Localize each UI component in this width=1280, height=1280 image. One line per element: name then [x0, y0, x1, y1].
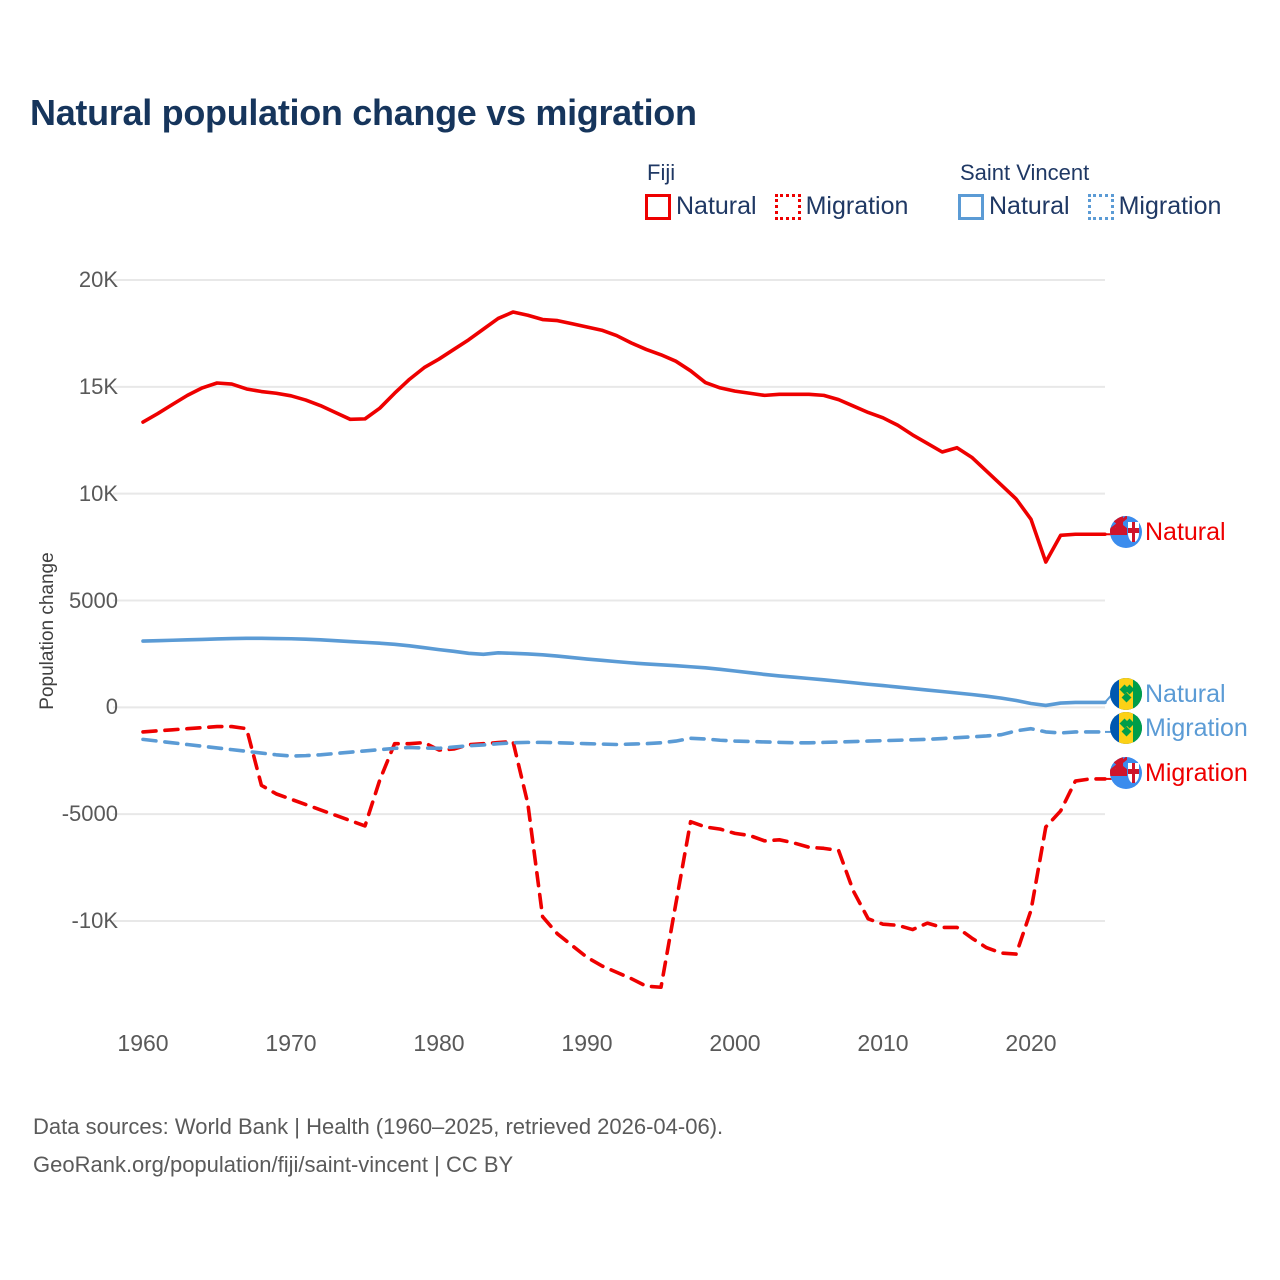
y-axis-tick-label: -5000	[8, 801, 118, 827]
end-label-text: Migration	[1145, 714, 1248, 743]
footer-data-sources: Data sources: World Bank | Health (1960–…	[33, 1108, 723, 1146]
y-axis-tick-label: 5000	[8, 588, 118, 614]
chart-plot-area	[0, 0, 1280, 1280]
x-axis-tick-label: 1990	[527, 1030, 647, 1057]
footer-attribution: GeoRank.org/population/fiji/saint-vincen…	[33, 1146, 723, 1184]
y-axis-tick-label: 15K	[8, 374, 118, 400]
x-axis-tick-label: 1960	[83, 1030, 203, 1057]
x-axis-tick-label: 1980	[379, 1030, 499, 1057]
y-axis-tick-label: 0	[8, 694, 118, 720]
end-label-fiji-migration[interactable]: Migration	[1110, 757, 1248, 789]
end-label-text: Natural	[1145, 518, 1226, 547]
end-label-saint-vincent-natural[interactable]: Natural	[1110, 678, 1226, 710]
saint-vincent-flag-icon	[1110, 712, 1142, 744]
end-label-text: Migration	[1145, 759, 1248, 788]
x-axis-tick-label: 1970	[231, 1030, 351, 1057]
series-line-saint-vincent-natural	[143, 638, 1105, 705]
series-line-fiji-natural	[143, 312, 1105, 562]
footer: Data sources: World Bank | Health (1960–…	[33, 1108, 723, 1184]
y-axis-tick-label: 20K	[8, 267, 118, 293]
chart-page: Natural population change vs migration F…	[0, 0, 1280, 1280]
y-axis-tick-label: -10K	[8, 908, 118, 934]
end-label-text: Natural	[1145, 680, 1226, 709]
y-axis-tick-label: 10K	[8, 481, 118, 507]
series-line-saint-vincent-migration	[143, 729, 1105, 756]
fiji-flag-icon	[1110, 516, 1142, 548]
series-line-fiji-migration	[143, 727, 1105, 988]
y-axis-title: Population change	[37, 521, 59, 741]
x-axis-tick-label: 2010	[823, 1030, 943, 1057]
end-label-fiji-natural[interactable]: Natural	[1110, 516, 1226, 548]
x-axis-tick-label: 2020	[971, 1030, 1091, 1057]
end-label-saint-vincent-migration[interactable]: Migration	[1110, 712, 1248, 744]
saint-vincent-flag-icon	[1110, 678, 1142, 710]
fiji-flag-icon	[1110, 757, 1142, 789]
x-axis-tick-label: 2000	[675, 1030, 795, 1057]
